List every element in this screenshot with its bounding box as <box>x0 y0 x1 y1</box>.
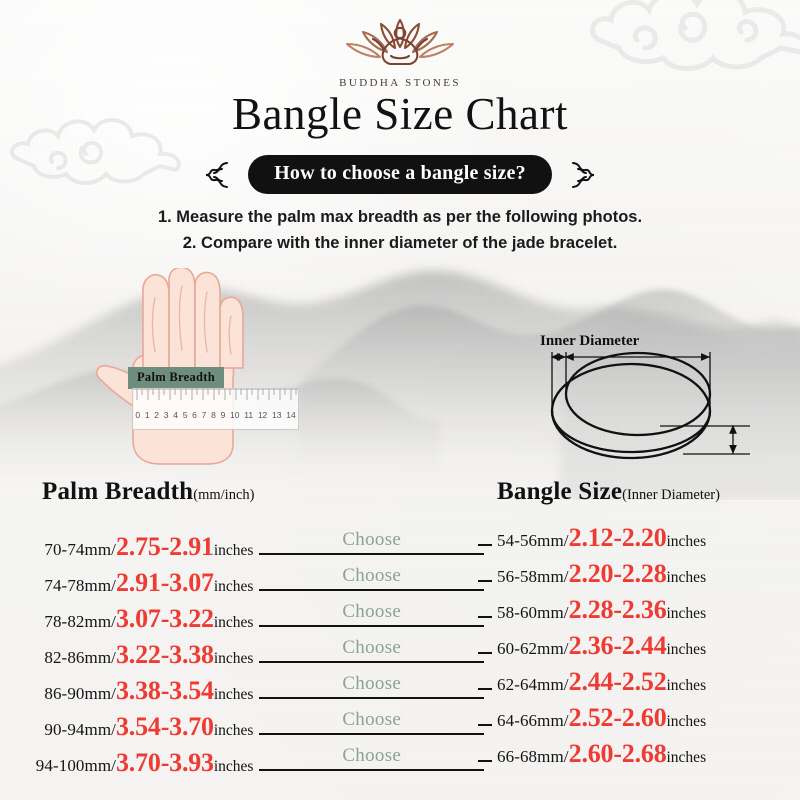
bangle-mm-range: 56-58mm/ <box>497 567 569 587</box>
bangle-unit: inches <box>667 677 707 695</box>
palm-inch-range: 3.22-3.38 <box>116 640 214 670</box>
table-row[interactable]: 82-86mm/ 3.22-3.38 inches Choose <box>24 631 484 667</box>
ruler-number: 12 <box>255 410 269 420</box>
palm-inch-range: 3.54-3.70 <box>116 712 214 742</box>
bangle-unit: inches <box>667 533 707 551</box>
choose-field[interactable]: Choose <box>259 595 484 627</box>
subtitle-pill: How to choose a bangle size? <box>248 155 552 194</box>
palm-breadth-label: Palm Breadth <box>128 367 224 389</box>
instruction-2: 2. Compare with the inner diameter of th… <box>0 231 800 257</box>
bangle-inch-range: 2.28-2.36 <box>569 595 667 625</box>
table-row[interactable]: 90-94mm/ 3.54-3.70 inches Choose <box>24 703 484 739</box>
choose-label: Choose <box>342 673 401 695</box>
palm-mm-range: 70-74mm/ <box>24 540 116 560</box>
bangle-inch-range: 2.36-2.44 <box>569 631 667 661</box>
bangle-size-table: 54-56mm/ 2.12-2.20 inches 56-58mm/ 2.20-… <box>478 523 798 775</box>
row-rule <box>478 742 492 762</box>
row-rule <box>478 598 492 618</box>
ruler-number: 13 <box>270 410 284 420</box>
palm-unit: inches <box>214 722 254 740</box>
ruler-numbers: 0 1 2 3 4 5 6 7 8 9 10 11 12 13 14 <box>133 404 298 426</box>
choose-label: Choose <box>342 709 401 731</box>
table-row[interactable]: 54-56mm/ 2.12-2.20 inches <box>478 523 778 559</box>
palm-inch-range: 3.38-3.54 <box>116 676 214 706</box>
palm-mm-range: 74-78mm/ <box>24 576 116 596</box>
row-rule <box>478 562 492 582</box>
table-row[interactable]: 70-74mm/ 2.75-2.91 inches Choose <box>24 523 484 559</box>
table-row[interactable]: 62-64mm/ 2.44-2.52 inches <box>478 667 778 703</box>
table-row[interactable]: 78-82mm/ 3.07-3.22 inches Choose <box>24 595 484 631</box>
bangle-unit: inches <box>667 605 707 623</box>
table-row[interactable]: 58-60mm/ 2.28-2.36 inches <box>478 595 778 631</box>
choose-field[interactable]: Choose <box>259 523 484 555</box>
instruction-1: 1. Measure the palm max breadth as per t… <box>0 205 800 231</box>
choose-field[interactable]: Choose <box>259 559 484 591</box>
palm-mm-range: 82-86mm/ <box>24 648 116 668</box>
palm-unit: inches <box>214 578 254 596</box>
bangle-inch-range: 2.44-2.52 <box>569 667 667 697</box>
bangle-unit: inches <box>667 569 707 587</box>
left-heading-unit: (mm/inch) <box>193 487 254 503</box>
choose-label: Choose <box>342 565 401 587</box>
palm-inch-range: 2.91-3.07 <box>116 568 214 598</box>
left-heading-main: Palm Breadth <box>42 478 193 505</box>
instructions-list: 1. Measure the palm max breadth as per t… <box>0 205 800 256</box>
ruler-number: 6 <box>190 410 199 420</box>
brand-logo-block: BUDDHA STONES <box>0 8 800 89</box>
palm-mm-range: 94-100mm/ <box>24 756 116 776</box>
ruler-number: 5 <box>180 410 189 420</box>
bangle-diagram <box>505 328 775 478</box>
palm-unit: inches <box>214 686 254 704</box>
table-row[interactable]: 60-62mm/ 2.36-2.44 inches <box>478 631 778 667</box>
table-row[interactable]: 74-78mm/ 2.91-3.07 inches Choose <box>24 559 484 595</box>
subtitle-row: How to choose a bangle size? <box>0 155 800 194</box>
row-rule <box>478 634 492 654</box>
palm-mm-range: 86-90mm/ <box>24 684 116 704</box>
choose-label: Choose <box>342 529 401 551</box>
ruler-illustration: 0 1 2 3 4 5 6 7 8 9 10 11 12 13 14 <box>132 388 299 430</box>
table-row[interactable]: 64-66mm/ 2.52-2.60 inches <box>478 703 778 739</box>
palm-mm-range: 78-82mm/ <box>24 612 116 632</box>
ruler-number: 7 <box>199 410 208 420</box>
bangle-inch-range: 2.12-2.20 <box>569 523 667 553</box>
choose-field[interactable]: Choose <box>259 667 484 699</box>
bangle-unit: inches <box>667 749 707 767</box>
bangle-inch-range: 2.52-2.60 <box>569 703 667 733</box>
choose-field[interactable]: Choose <box>259 631 484 663</box>
ruler-number: 8 <box>209 410 218 420</box>
table-row[interactable]: 66-68mm/ 2.60-2.68 inches <box>478 739 778 775</box>
right-column-heading: Bangle Size(Inner Diameter) <box>497 478 720 506</box>
bangle-mm-range: 66-68mm/ <box>497 747 569 767</box>
ruler-number: 10 <box>228 410 242 420</box>
bangle-unit: inches <box>667 641 707 659</box>
palm-inch-range: 3.70-3.93 <box>116 748 214 778</box>
row-rule <box>478 670 492 690</box>
palm-inch-range: 2.75-2.91 <box>116 532 214 562</box>
ruler-number: 11 <box>242 410 256 420</box>
bangle-mm-range: 54-56mm/ <box>497 531 569 551</box>
bangle-mm-range: 58-60mm/ <box>497 603 569 623</box>
table-row[interactable]: 94-100mm/ 3.70-3.93 inches Choose <box>24 739 484 775</box>
page-title: Bangle Size Chart <box>0 88 800 140</box>
palm-unit: inches <box>214 542 254 560</box>
ruler-number: 2 <box>152 410 161 420</box>
ruler-number: 4 <box>171 410 180 420</box>
table-row[interactable]: 86-90mm/ 3.38-3.54 inches Choose <box>24 667 484 703</box>
palm-unit: inches <box>214 650 254 668</box>
right-heading-main: Bangle Size <box>497 478 622 505</box>
bangle-unit: inches <box>667 713 707 731</box>
ruler-number: 3 <box>161 410 170 420</box>
ruler-ticks <box>133 389 298 405</box>
bangle-inch-range: 2.60-2.68 <box>569 739 667 769</box>
ruler-number: 9 <box>218 410 227 420</box>
table-row[interactable]: 56-58mm/ 2.20-2.28 inches <box>478 559 778 595</box>
row-rule <box>478 526 492 546</box>
palm-unit: inches <box>214 614 254 632</box>
bangle-mm-range: 62-64mm/ <box>497 675 569 695</box>
choose-field[interactable]: Choose <box>259 739 484 771</box>
choose-label: Choose <box>342 637 401 659</box>
right-heading-unit: (Inner Diameter) <box>622 487 720 503</box>
row-rule <box>478 706 492 726</box>
lotus-meditation-logo-icon <box>335 8 465 74</box>
bangle-inch-range: 2.20-2.28 <box>569 559 667 589</box>
ruler-number: 1 <box>142 410 151 420</box>
size-chart-page: BUDDHA STONES Bangle Size Chart How to c… <box>0 0 800 800</box>
choose-label: Choose <box>342 745 401 767</box>
flourish-left-icon <box>200 158 234 192</box>
palm-inch-range: 3.07-3.22 <box>116 604 214 634</box>
bangle-mm-range: 64-66mm/ <box>497 711 569 731</box>
ruler-number: 0 <box>133 410 142 420</box>
choose-field[interactable]: Choose <box>259 703 484 735</box>
palm-unit: inches <box>214 758 254 776</box>
choose-label: Choose <box>342 601 401 623</box>
ruler-number: 14 <box>284 410 298 420</box>
palm-breadth-table: 70-74mm/ 2.75-2.91 inches Choose 74-78mm… <box>24 523 486 775</box>
flourish-right-icon <box>566 158 600 192</box>
palm-mm-range: 90-94mm/ <box>24 720 116 740</box>
left-column-heading: Palm Breadth(mm/inch) <box>42 478 254 506</box>
bangle-mm-range: 60-62mm/ <box>497 639 569 659</box>
